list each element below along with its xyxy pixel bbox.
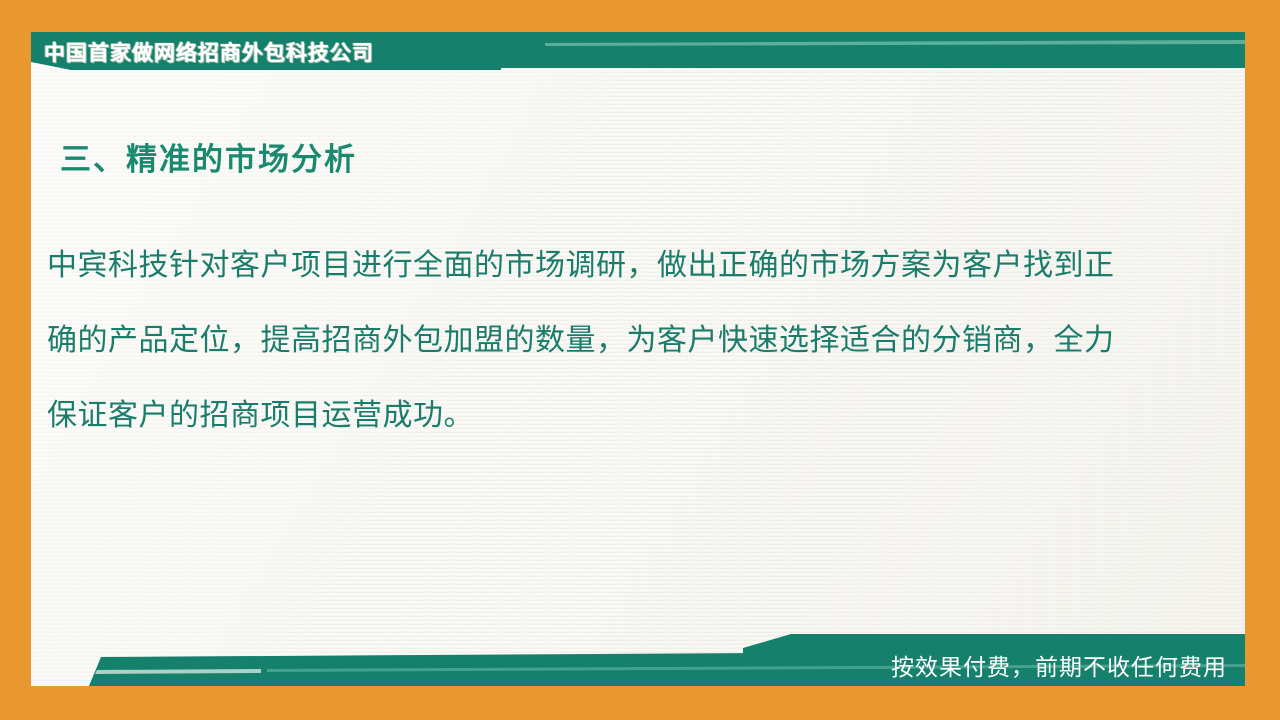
frame-right-orange <box>1245 0 1280 720</box>
frame-left-orange <box>0 0 31 720</box>
paragraph-line-1: 中宾科技针对客户项目进行全面的市场调研，做出正确的市场方案为客户找到正 <box>47 228 1187 303</box>
footer-tagline: 按效果付费，前期不收任何费用 <box>891 648 1227 682</box>
paragraph-line-3: 保证客户的招商项目运营成功。 <box>47 378 1187 453</box>
header-title: 中国首家做网络招商外包科技公司 <box>44 37 374 67</box>
paragraph-line-2: 确的产品定位，提高招商外包加盟的数量，为客户快速选择适合的分销商，全力 <box>47 303 1187 378</box>
body-paragraph: 中宾科技针对客户项目进行全面的市场调研，做出正确的市场方案为客户找到正 确的产品… <box>47 228 1187 453</box>
frame-bottom-orange <box>0 686 1280 720</box>
section-title: 三、精准的市场分析 <box>60 134 357 179</box>
frame-top-orange <box>0 0 1280 32</box>
slide-root: 中国首家做网络招商外包科技公司 三、精准的市场分析 中宾科技针对客户项目进行全面… <box>0 0 1280 720</box>
